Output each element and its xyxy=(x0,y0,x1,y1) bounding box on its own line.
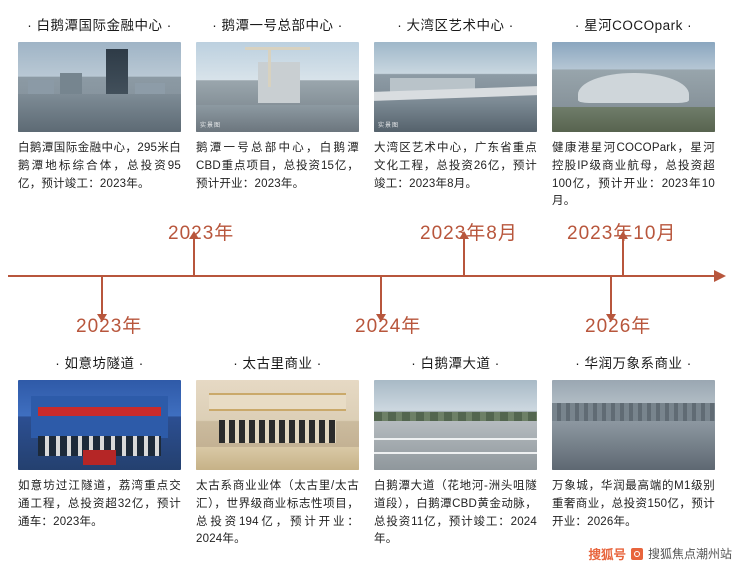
photo-watermark: 实景图 xyxy=(200,120,221,129)
top-card-row: · 白鹅潭国际金融中心 · 实景图 白鹅潭国际金融中心，295米白鹅潭地标综合体… xyxy=(0,14,740,211)
card-title: · 太古里商业 · xyxy=(196,352,359,372)
timeline-axis xyxy=(8,275,714,277)
card-title: · 华润万象系商业 · xyxy=(552,352,715,372)
project-card-bottom-4: · 华润万象系商业 · 万象城，华润最高端的M1级别重奢商业，总投资150亿，预… xyxy=(552,352,715,549)
sohu-site-text: 搜狐焦点潮州站 xyxy=(648,545,732,562)
timeline-arrow-icon xyxy=(714,270,726,282)
timeline-date-down-3: 2026年 xyxy=(585,311,651,338)
project-card-bottom-2: · 太古里商业 · 太古系商业业体（太古里/太古汇），世界级商业标志性项目，总投… xyxy=(196,352,359,549)
riverside-city-aerial-photo xyxy=(552,380,715,470)
tunnel-groundbreaking-ceremony-photo xyxy=(18,380,181,470)
project-card-top-1: · 白鹅潭国际金融中心 · 实景图 白鹅潭国际金融中心，295米白鹅潭地标综合体… xyxy=(18,14,181,211)
card-caption: 鹅潭一号总部中心，白鹅潭CBD重点项目，总投资15亿，预计开业：2023年。 xyxy=(196,140,359,193)
card-title: · 星河COCOpark · xyxy=(552,14,715,34)
card-title: · 鹅潭一号总部中心 · xyxy=(196,14,359,34)
timeline-date-up-1: 2023年 xyxy=(168,218,234,245)
card-caption: 如意坊过江隧道，荔湾重点交通工程，总投资超32亿，预计通车：2023年。 xyxy=(18,478,181,531)
sohu-badge-icon xyxy=(631,548,643,560)
timeline-date-down-2: 2024年 xyxy=(355,311,421,338)
card-title: · 白鹅潭国际金融中心 · xyxy=(18,14,181,34)
card-title: · 大湾区艺术中心 · xyxy=(374,14,537,34)
card-title: · 如意坊隧道 · xyxy=(18,352,181,372)
photo-watermark: 实景图 xyxy=(378,120,399,129)
project-card-top-3: · 大湾区艺术中心 · 实景图 大湾区艺术中心，广东省重点文化工程，总投资26亿… xyxy=(374,14,537,211)
timeline-date-down-1: 2023年 xyxy=(76,311,142,338)
shopping-mall-aerial-photo xyxy=(552,42,715,132)
timeline-date-up-3: 2023年10月 xyxy=(567,218,676,245)
timeline-tick-down-2 xyxy=(380,277,382,315)
card-caption: 健康港星河COCOPark，星河控股IP级商业航母，总投资超100亿，预计开业：… xyxy=(552,140,715,211)
card-caption: 大湾区艺术中心，广东省重点文化工程，总投资26亿，预计竣工：2023年8月。 xyxy=(374,140,537,193)
photo-watermark: 实景图 xyxy=(22,120,43,129)
art-center-aerial-photo: 实景图 xyxy=(374,42,537,132)
project-card-bottom-3: · 白鹅潭大道 · 白鹅潭大道（花地河-洲头咀隧道段），白鹅潭CBD黄金动脉，总… xyxy=(374,352,537,549)
avenue-road-photo xyxy=(374,380,537,470)
project-card-top-4: · 星河COCOpark · 健康港星河COCOPark，星河控股IP级商业航母… xyxy=(552,14,715,211)
timeline-infographic: · 白鹅潭国际金融中心 · 实景图 白鹅潭国际金融中心，295米白鹅潭地标综合体… xyxy=(0,0,740,569)
aerial-skyscraper-photo: 实景图 xyxy=(18,42,181,132)
project-card-bottom-1: · 如意坊隧道 · 如意坊过江隧道，荔湾重点交通工程，总投资超32亿，预计通车：… xyxy=(18,352,181,549)
timeline-tick-down-1 xyxy=(101,277,103,315)
card-caption: 白鹅潭国际金融中心，295米白鹅潭地标综合体，总投资95亿，预计竣工：2023年… xyxy=(18,140,181,193)
timeline-tick-down-3 xyxy=(610,277,612,315)
card-caption: 万象城，华润最高端的M1级别重奢商业，总投资150亿，预计开业：2026年。 xyxy=(552,478,715,531)
timeline-date-up-2: 2023年8月 xyxy=(420,218,518,245)
card-caption: 太古系商业业体（太古里/太古汇），世界级商业标志性项目，总投资194亿，预计开业… xyxy=(196,478,359,549)
sohu-watermark: 搜狐号 搜狐焦点潮州站 xyxy=(588,544,732,563)
taikoo-li-ceremony-photo xyxy=(196,380,359,470)
card-caption: 白鹅潭大道（花地河-洲头咀隧道段），白鹅潭CBD黄金动脉，总投资11亿，预计竣工… xyxy=(374,478,537,549)
bottom-card-row: · 如意坊隧道 · 如意坊过江隧道，荔湾重点交通工程，总投资超32亿，预计通车：… xyxy=(0,352,740,549)
sohu-logo-text: 搜狐号 xyxy=(588,544,626,563)
project-card-top-2: · 鹅潭一号总部中心 · 实景图 鹅潭一号总部中心，白鹅潭CBD重点项目，总投资… xyxy=(196,14,359,211)
card-title: · 白鹅潭大道 · xyxy=(374,352,537,372)
construction-site-photo: 实景图 xyxy=(196,42,359,132)
